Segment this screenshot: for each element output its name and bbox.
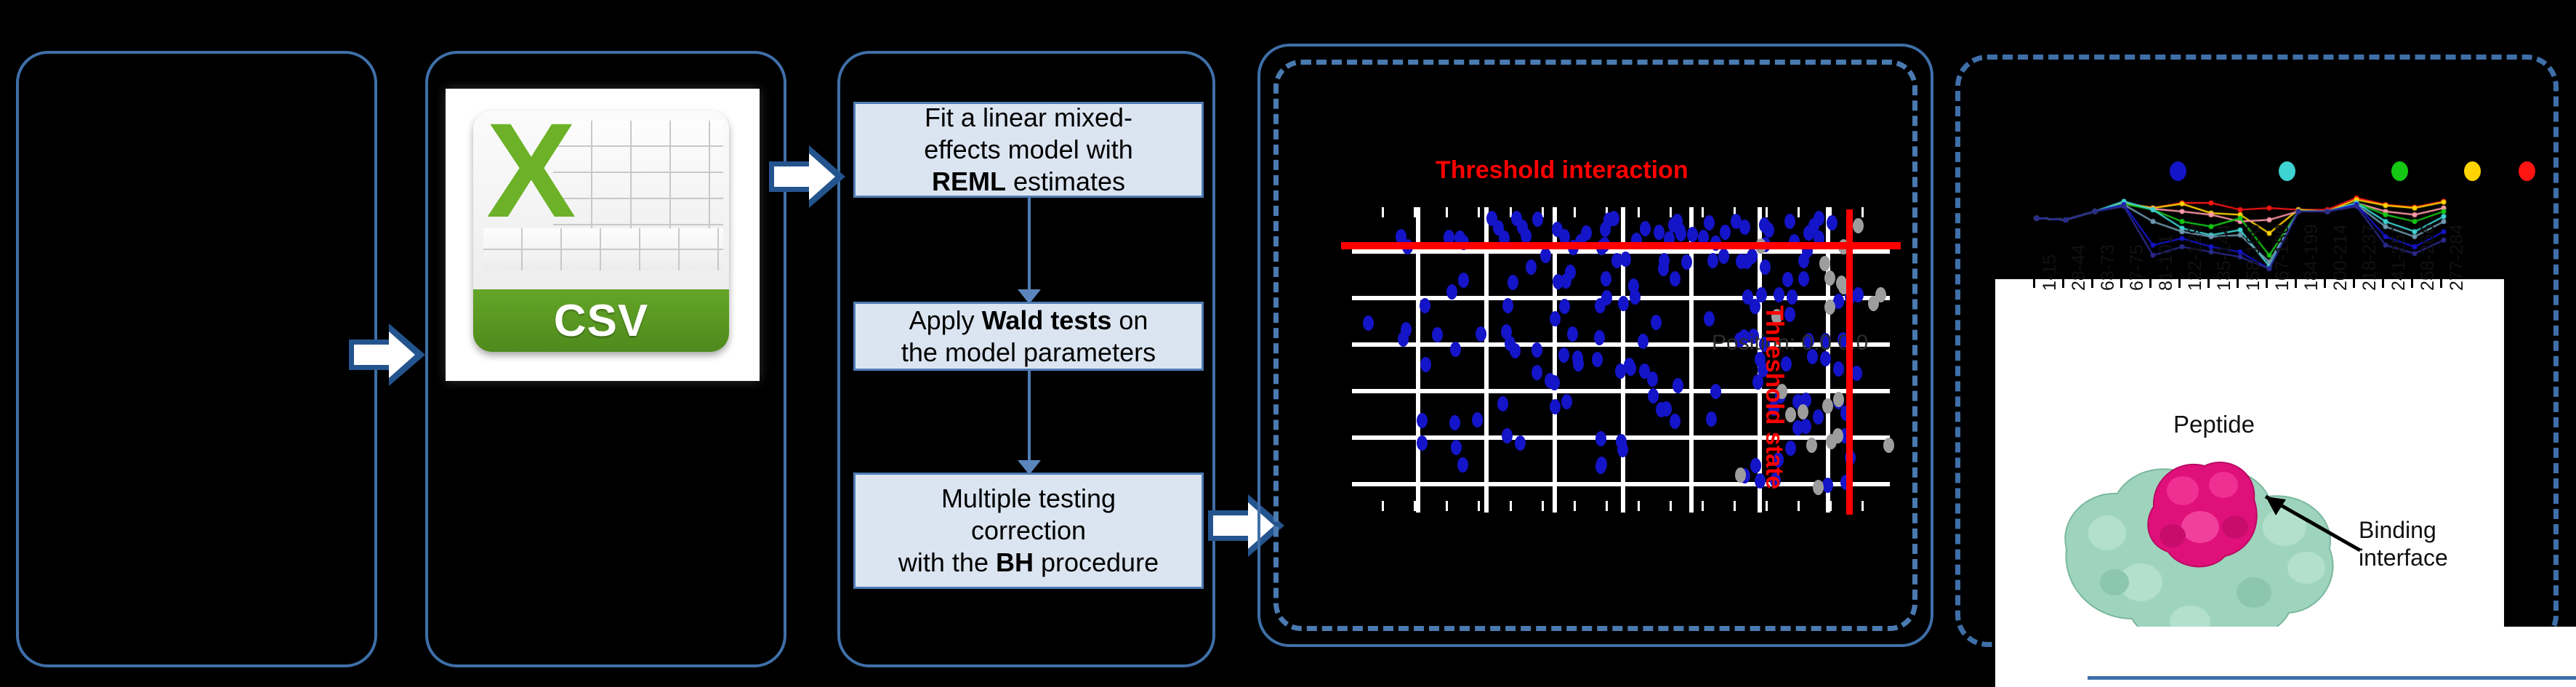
scatter-point-gray	[1826, 434, 1837, 449]
peptide-tick-label-11: 218-237	[2359, 224, 2380, 291]
scatter-point	[1505, 336, 1516, 351]
peptide-tick	[2149, 276, 2152, 288]
scatter-point	[1782, 272, 1793, 287]
scatter-point	[1853, 287, 1864, 302]
peptide-tick	[2091, 276, 2093, 288]
scatter-point	[1638, 334, 1649, 349]
threshold-interaction-label: Threshold interaction	[1436, 156, 1689, 185]
scatter-point	[1654, 225, 1665, 240]
scatter-point	[1628, 278, 1639, 294]
step-1-line-1: Fit a linear mixed-	[925, 103, 1132, 132]
step-1-line-2: effects model with	[924, 134, 1132, 164]
peptide-tick	[2237, 276, 2239, 288]
scatter-point	[1595, 459, 1606, 474]
peptide-tick-label-9: 184-199	[2301, 224, 2322, 291]
binding-interface-arrow-icon	[2235, 483, 2366, 571]
step-2-post: on	[1111, 305, 1148, 335]
peptide-tick	[2120, 276, 2122, 288]
peptide-tick-label-3: 67-75	[2127, 244, 2148, 291]
step-bh-correction[interactable]: Multiple testing correction with the BH …	[853, 473, 1204, 589]
peptide-tick	[2324, 276, 2326, 288]
step-fit-model[interactable]: Fit a linear mixed- effects model with R…	[853, 102, 1204, 198]
arrow-head-fill	[809, 153, 835, 200]
scatter-point	[1720, 225, 1731, 240]
csv-icon-container: X CSV	[446, 89, 760, 381]
scatter-point-gray	[1875, 287, 1886, 302]
step-2-bold-wald: Wald tests	[982, 305, 1112, 335]
connector-line-2	[1028, 371, 1031, 462]
peptide-tick-label-14: 277-284	[2447, 224, 2468, 291]
csv-file-icon: X CSV	[473, 111, 729, 352]
scatter-point	[1760, 260, 1771, 275]
legend-dot-3	[2464, 161, 2481, 181]
scatter-point	[1813, 409, 1824, 425]
scatter-tick-row	[1352, 501, 1890, 511]
scatter-point	[1739, 220, 1750, 235]
scatter-point	[1827, 215, 1838, 230]
scatter-point	[1451, 440, 1462, 455]
peptide-tick-label-4: 81-101	[2156, 234, 2177, 291]
scatter-point	[1497, 396, 1508, 411]
scatter-point	[1420, 298, 1430, 313]
peptide-tick-label-7: 158-166	[2243, 224, 2264, 291]
scatter-point	[1718, 249, 1729, 264]
scatter-point	[1472, 412, 1483, 427]
peptide-tick	[2440, 276, 2442, 288]
scatter-point-gray	[1813, 480, 1824, 495]
arrow-shaft	[769, 161, 814, 192]
peptide-tick	[2295, 276, 2297, 288]
bottom-rule	[2088, 676, 2576, 680]
scatter-point	[1561, 394, 1572, 409]
arrow-shaft	[1208, 510, 1253, 541]
scatter-point-gray	[1798, 404, 1808, 419]
step-3-pre: with the	[898, 547, 996, 577]
step-wald-tests[interactable]: Apply Wald tests on the model parameters	[853, 302, 1204, 371]
peptide-tick-label-13: 258-266	[2418, 224, 2439, 291]
scatter-point	[1432, 327, 1443, 342]
peptide-tick-label-1: 28-44	[2069, 244, 2090, 291]
peptide-tick	[2033, 276, 2035, 288]
scatter-point	[1417, 413, 1428, 428]
peptide-tick-label-10: 200-214	[2330, 224, 2351, 291]
csv-label-band: CSV	[473, 289, 729, 352]
scatter-point	[1526, 260, 1537, 275]
step-3-line-1: Multiple testing	[941, 483, 1116, 513]
scatter-point	[1750, 299, 1760, 314]
scatter-point	[1595, 431, 1606, 446]
scatter-tick-row	[1352, 207, 1890, 217]
peptide-tick	[2411, 276, 2413, 288]
scatter-point	[1417, 435, 1428, 451]
scatter-point	[1681, 254, 1692, 270]
scatter-point	[1647, 371, 1658, 387]
peptide-tick	[2353, 276, 2355, 288]
step-3-line-2: correction	[971, 515, 1086, 545]
scatter-plot	[1352, 207, 1890, 513]
scatter-point	[1401, 322, 1412, 337]
connector-line-1	[1028, 198, 1031, 291]
scatter-point	[1502, 298, 1513, 313]
peptide-tick-label-5: 122-129	[2185, 224, 2206, 291]
peptide-tick-label-8: 167-180	[2272, 224, 2293, 291]
peptide-axis-card: Peptide Binding interface 1-1528-4463-73…	[1995, 276, 2504, 687]
scatter-point	[1595, 298, 1606, 313]
legend-dot-4	[2519, 161, 2535, 181]
step-1-bold-reml: REML	[932, 166, 1006, 196]
scatter-point	[1550, 311, 1561, 326]
peptide-tick	[2062, 276, 2064, 288]
scatter-point	[1457, 457, 1468, 473]
scatter-point	[1704, 311, 1715, 326]
scatter-point	[1486, 211, 1497, 226]
scatter-point	[1648, 388, 1659, 403]
scatter-point-gray	[1822, 398, 1833, 414]
scatter-point-gray	[1883, 438, 1894, 453]
arrow-to-steps	[769, 145, 849, 208]
excel-x-icon: X	[486, 116, 573, 225]
scatter-point	[1707, 253, 1718, 268]
empty-stage-panel	[16, 51, 377, 667]
scatter-point	[1670, 414, 1681, 429]
scatter-point	[1558, 347, 1569, 363]
scatter-point	[1620, 252, 1631, 267]
arrow-shaft	[349, 340, 394, 370]
peptide-tick	[2207, 276, 2210, 288]
legend-dot-1	[2279, 161, 2295, 181]
step-1-tail: estimates	[1006, 166, 1125, 196]
peptide-tick	[2178, 276, 2181, 288]
threshold-interaction-line	[1341, 242, 1901, 249]
peptide-tick-label-12: 241-257	[2388, 224, 2410, 291]
scatter-point	[1446, 284, 1457, 300]
arrow-to-csv	[349, 324, 429, 386]
scatter-point	[1706, 411, 1717, 427]
scatter-point	[1592, 352, 1603, 367]
scatter-point	[1449, 415, 1460, 430]
peptide-tick	[2382, 276, 2384, 288]
step-2-pre: Apply	[909, 305, 982, 335]
threshold-state-line	[1846, 209, 1853, 515]
binding-interface-label: Binding interface	[2359, 516, 2448, 572]
scatter-point	[1363, 316, 1374, 331]
scatter-point	[1572, 350, 1583, 366]
binding-interface-line-1: Binding	[2359, 516, 2448, 544]
threshold-state-label: Threshold state	[1760, 305, 1788, 489]
scatter-point	[1515, 435, 1526, 451]
scatter-point	[1833, 361, 1844, 377]
step-3-post: procedure	[1034, 547, 1159, 577]
scatter-point	[1670, 271, 1681, 286]
scatter-point	[1531, 342, 1542, 358]
scatter-point	[1617, 442, 1628, 457]
scatter-point	[1508, 275, 1518, 290]
scatter-point	[1798, 271, 1809, 286]
arrow-head-fill	[389, 332, 415, 378]
peptide-tick-label-6: 135-144	[2214, 224, 2235, 291]
legend-dot-2	[2391, 161, 2408, 181]
scatter-point	[1420, 357, 1431, 372]
scatter-point-gray	[1735, 467, 1746, 483]
scatter-point	[1625, 361, 1636, 376]
faded-axis-text: Position: 0.0 0.0	[1712, 331, 1868, 355]
scatter-point	[1476, 326, 1486, 342]
scatter-point	[1532, 212, 1543, 227]
scatter-point	[1540, 248, 1551, 263]
peptide-tick-label-2: 63-73	[2098, 244, 2119, 291]
scatter-point	[1531, 365, 1542, 380]
scatter-point	[1704, 215, 1715, 230]
scatter-point	[1600, 222, 1611, 237]
csv-label: CSV	[554, 295, 648, 347]
scatter-point	[1747, 249, 1758, 264]
peptide-axis-title: Peptide	[2173, 411, 2255, 438]
step-3-bold-bh: BH	[996, 547, 1034, 577]
peptide-tick-label-0: 1-15	[2040, 254, 2061, 291]
binding-interface-line-2: interface	[2359, 544, 2448, 571]
legend-dot-0	[2170, 161, 2186, 181]
peptide-tick	[2266, 276, 2268, 288]
step-2-line-2: the model parameters	[901, 337, 1156, 367]
